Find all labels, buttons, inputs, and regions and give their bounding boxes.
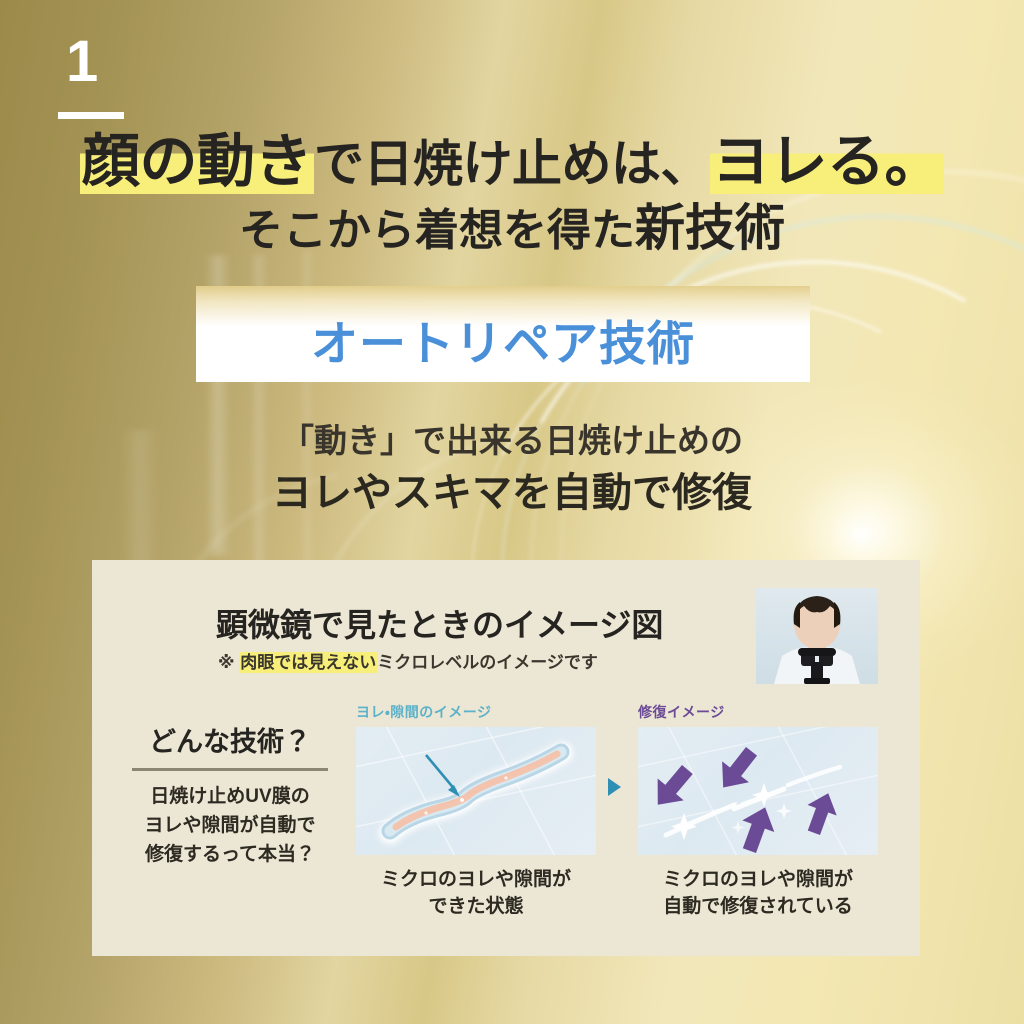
question-body-line-1: 日焼け止めUV膜の bbox=[124, 783, 336, 812]
headline-middle: で日焼け止めは、 bbox=[314, 136, 710, 192]
gap-illustration bbox=[356, 727, 596, 855]
figure-gap-caption-line-2: できた状態 bbox=[356, 894, 596, 921]
question-body: 日焼け止めUV膜の ヨレや隙間が自動で 修復するって本当？ bbox=[124, 783, 336, 870]
figure-repair-caption-line-2: 自動で修復されている bbox=[638, 894, 878, 921]
figure-repair-caption-line-1: ミクロのヨレや隙間が bbox=[638, 867, 878, 894]
step-underline bbox=[58, 112, 124, 119]
sub-description-line-2: ヨレやスキマを自動で修復 bbox=[0, 469, 1024, 517]
figure-gap-caption-line-1: ミクロのヨレや隙間が bbox=[356, 867, 596, 894]
figure-gap-canvas bbox=[356, 727, 596, 855]
headline-line-2-lead: そこから着想を得た bbox=[239, 206, 635, 255]
panel-note-prefix: ※ bbox=[218, 653, 239, 672]
question-body-line-2: ヨレや隙間が自動で bbox=[124, 812, 336, 841]
question-divider bbox=[132, 768, 328, 771]
headline-line-1: 顔の動きで日焼け止めは、ヨレる。 bbox=[0, 130, 1024, 195]
question-title: どんな技術？ bbox=[124, 720, 336, 759]
figure-gap-caption: ミクロのヨレや隙間が できた状態 bbox=[356, 867, 596, 921]
progress-arrow-icon bbox=[608, 778, 621, 796]
figure-repair: 修復イメージ bbox=[638, 702, 878, 921]
repair-illustration bbox=[638, 727, 878, 855]
headline: 顔の動きで日焼け止めは、ヨレる。 そこから着想を得た新技術 bbox=[0, 130, 1024, 256]
microscope-photo-graphic bbox=[756, 588, 878, 684]
microscope-photo bbox=[756, 588, 878, 684]
microscope-panel: 顕微鏡で見たときのイメージ図 ※ 肉眼では見えないミクロレベルのイメージです bbox=[92, 560, 920, 956]
figure-gap: ヨレ・隙間のイメージ bbox=[356, 702, 596, 921]
headline-line-2: そこから着想を得た新技術 bbox=[0, 201, 1024, 256]
panel-title: 顕微鏡で見たときのイメージ図 bbox=[216, 600, 663, 646]
gap-dot-2 bbox=[424, 811, 427, 814]
figure-repair-caption: ミクロのヨレや隙間が 自動で修復されている bbox=[638, 867, 878, 921]
sub-description: 「動き」で出来る日焼け止めの ヨレやスキマを自動で修復 bbox=[0, 420, 1024, 517]
headline-emphasis-1: 顔の動き bbox=[80, 129, 314, 194]
headline-line-2-strong: 新技術 bbox=[635, 200, 785, 256]
step-number: 1 bbox=[66, 33, 99, 91]
poster-root: 1 顔の動きで日焼け止めは、ヨレる。 そこから着想を得た新技術 オートリペア技術… bbox=[0, 0, 1024, 1024]
figure-gap-label: ヨレ・隙間のイメージ bbox=[356, 702, 596, 722]
gap-dot-3 bbox=[504, 776, 507, 779]
question-block: どんな技術？ 日焼け止めUV膜の ヨレや隙間が自動で 修復するって本当？ bbox=[124, 720, 336, 870]
repair-arrows bbox=[645, 741, 843, 855]
technology-banner: オートリペア技術 bbox=[196, 286, 810, 382]
sub-description-line-1: 「動き」で出来る日焼け止めの bbox=[0, 420, 1024, 461]
gap-dot-1 bbox=[460, 798, 464, 802]
panel-note: ※ 肉眼では見えないミクロレベルのイメージです bbox=[218, 648, 598, 673]
headline-emphasis-2: ヨレる。 bbox=[710, 129, 944, 194]
panel-note-rest: ミクロレベルのイメージです bbox=[377, 653, 598, 672]
figure-repair-canvas bbox=[638, 727, 878, 855]
gap-pointer-arrow bbox=[426, 755, 460, 797]
technology-name: オートリペア技術 bbox=[311, 305, 695, 374]
question-body-line-3: 修復するって本当？ bbox=[124, 841, 336, 870]
figure-repair-label: 修復イメージ bbox=[638, 702, 878, 722]
panel-note-highlight: 肉眼では見えない bbox=[239, 652, 377, 673]
